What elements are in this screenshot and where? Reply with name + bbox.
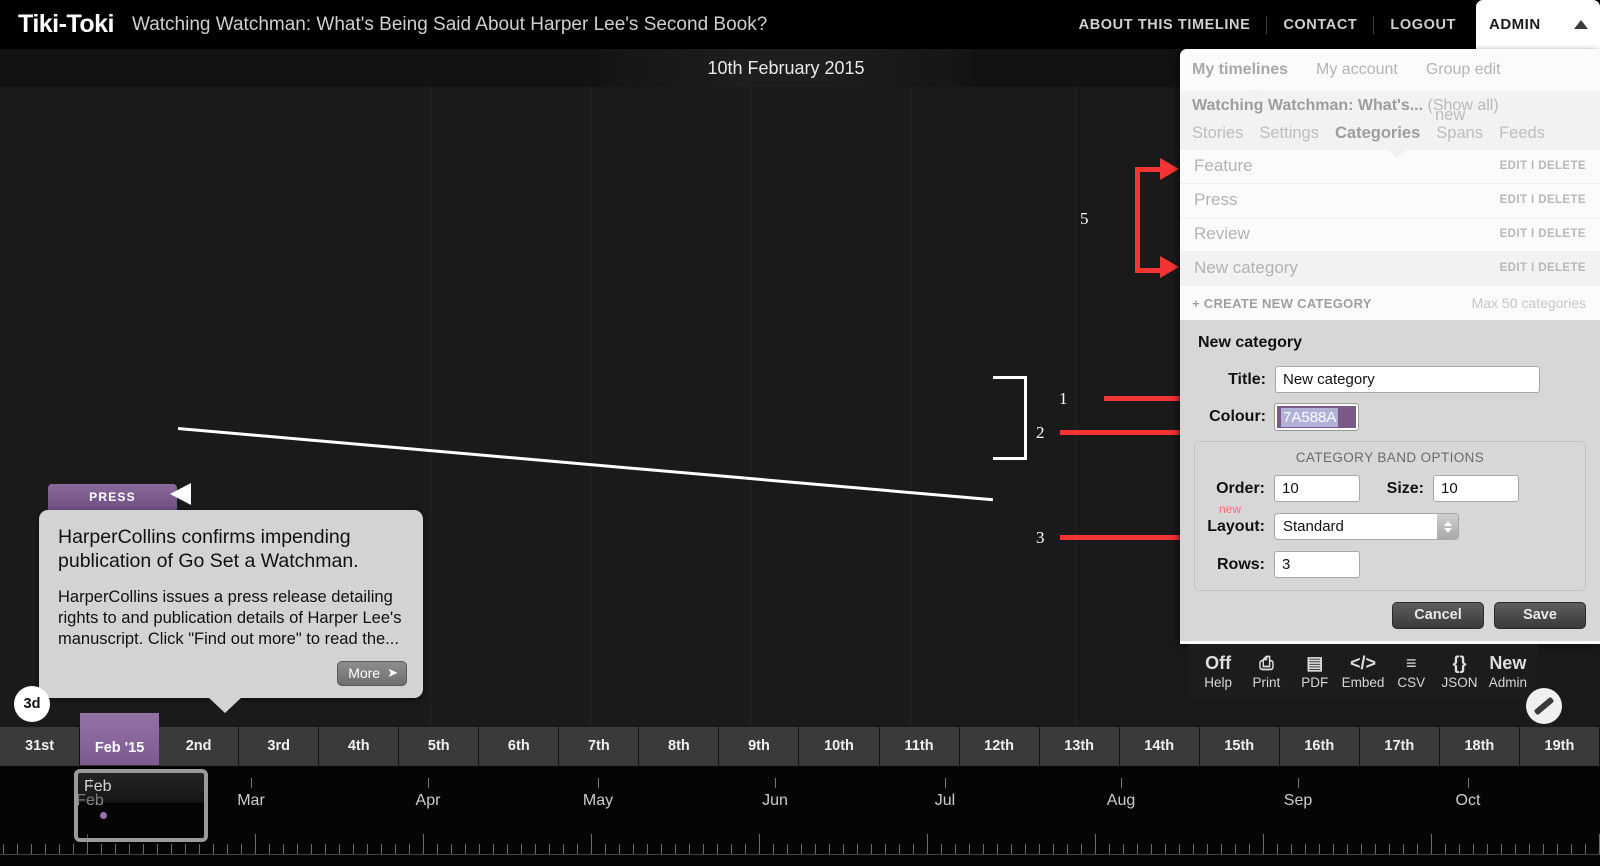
month-tick xyxy=(945,778,946,788)
arrow-right-icon: ➤ xyxy=(387,665,398,681)
day-cell[interactable]: 3rd xyxy=(239,727,319,765)
day-ruler[interactable]: 31st Feb '15 2nd 3rd 4th 5th 6th 7th 8th… xyxy=(0,727,1600,765)
tab-spans[interactable]: Spans xyxy=(1436,124,1483,143)
layout-select-wrap[interactable]: Standard xyxy=(1274,513,1459,540)
tab-group-edit[interactable]: Group edit xyxy=(1426,61,1501,79)
nav-logout[interactable]: LOGOUT xyxy=(1374,16,1472,34)
rows-row: Rows: xyxy=(1207,551,1573,578)
month-tick xyxy=(428,778,429,788)
pdf-label: PDF xyxy=(1301,675,1328,690)
edit-link[interactable]: EDIT xyxy=(1500,160,1528,172)
month-tick xyxy=(1121,778,1122,788)
title-label: Title: xyxy=(1194,371,1266,389)
month-strip[interactable]: Feb Mar Apr May Jun Jul Aug Sep Oct xyxy=(0,765,1600,866)
title-field-row: Title: xyxy=(1194,366,1586,393)
annotation-white-bracket xyxy=(993,376,1027,460)
create-category-row[interactable]: + CREATE NEW CATEGORY Max 50 categories xyxy=(1180,286,1600,320)
day-cell[interactable]: 31st xyxy=(0,727,80,765)
day-cell[interactable]: 14th xyxy=(1120,727,1200,765)
csv-label: CSV xyxy=(1397,675,1425,690)
help-label: Help xyxy=(1204,675,1232,690)
month-tick xyxy=(251,778,252,788)
table-row[interactable]: Review EDIT I DELETE xyxy=(1180,218,1600,252)
day-cell[interactable]: 11th xyxy=(880,727,960,765)
canvas-gridline xyxy=(1075,87,1076,727)
admin-timeline-name-row: Watching Watchman: What's... (Show all) xyxy=(1192,97,1588,115)
tab-my-timelines[interactable]: My timelines xyxy=(1192,61,1288,79)
size-label: Size: xyxy=(1360,480,1424,498)
admin-timeline-name: Watching Watchman: What's... xyxy=(1192,97,1423,114)
rows-input[interactable] xyxy=(1274,551,1360,578)
max-categories-note: Max 50 categories xyxy=(1472,295,1586,311)
edit-link[interactable]: EDIT xyxy=(1500,194,1528,206)
print-button[interactable]: ⎙ Print xyxy=(1242,653,1290,690)
day-cell[interactable]: 9th xyxy=(719,727,799,765)
month-baseline xyxy=(0,854,1600,855)
caret-up-icon xyxy=(1246,90,1264,98)
json-button[interactable]: {} JSON xyxy=(1436,653,1484,690)
story-card[interactable]: HarperCollins confirms impending publica… xyxy=(39,510,423,698)
day-cell[interactable]: 10th xyxy=(799,727,879,765)
timeline-title: Watching Watchman: What's Being Said Abo… xyxy=(132,14,767,36)
story-category-tag[interactable]: PRESS xyxy=(48,484,177,510)
delete-link[interactable]: DELETE xyxy=(1538,228,1586,240)
annotation-white-arrowhead xyxy=(170,483,191,505)
story-more-label: More xyxy=(348,665,380,681)
category-actions[interactable]: EDIT I DELETE xyxy=(1500,160,1586,172)
app-root: Tiki-Toki Watching Watchman: What's Bein… xyxy=(0,0,1600,866)
pdf-icon: ▤ xyxy=(1306,653,1323,673)
band-options-heading: CATEGORY BAND OPTIONS xyxy=(1207,450,1573,465)
rows-label: Rows: xyxy=(1207,556,1265,574)
month-tick xyxy=(1468,778,1469,788)
top-bar: Tiki-Toki Watching Watchman: What's Bein… xyxy=(0,0,1600,49)
order-size-row: Order: Size: xyxy=(1207,475,1573,502)
printer-icon: ⎙ xyxy=(1259,653,1273,673)
nav-about-this-timeline[interactable]: ABOUT THIS TIMELINE xyxy=(1063,16,1268,34)
new-admin-button[interactable]: New Admin xyxy=(1484,653,1532,690)
day-cell[interactable]: 19th xyxy=(1520,727,1600,765)
day-cell[interactable]: 15th xyxy=(1200,727,1280,765)
annotation-5-arrowhead-bottom xyxy=(1160,256,1179,278)
category-name: Review xyxy=(1194,224,1250,244)
month-tick xyxy=(1298,778,1299,788)
table-row[interactable]: New category EDIT I DELETE xyxy=(1180,252,1600,286)
list-icon: ≡ xyxy=(1406,653,1417,673)
admin-primary-tabs: My timelines My account Group edit xyxy=(1180,49,1600,91)
day-cell[interactable]: 8th xyxy=(639,727,719,765)
table-row[interactable]: Press EDIT I DELETE xyxy=(1180,184,1600,218)
day-cell[interactable]: 4th xyxy=(319,727,399,765)
day-cell[interactable]: 13th xyxy=(1040,727,1120,765)
day-cell[interactable]: 7th xyxy=(559,727,639,765)
action-separator: I xyxy=(1531,194,1535,206)
tab-categories[interactable]: Categories xyxy=(1335,124,1420,143)
annotation-number-1: 1 xyxy=(1059,389,1068,409)
tab-feeds[interactable]: Feeds xyxy=(1499,124,1545,143)
layout-row: new Layout: Standard xyxy=(1207,513,1573,540)
viewport-selector[interactable]: Feb xyxy=(74,769,208,842)
category-list: Feature EDIT I DELETE Press EDIT I DELET… xyxy=(1180,150,1600,286)
annotation-number-2: 2 xyxy=(1036,423,1045,443)
annotation-number-3: 3 xyxy=(1036,528,1045,548)
current-date-header: 10th February 2015 xyxy=(600,49,972,87)
order-input[interactable] xyxy=(1274,475,1360,502)
canvas-gridline xyxy=(750,87,751,727)
edit-link[interactable]: EDIT xyxy=(1500,262,1528,274)
category-name: Press xyxy=(1194,190,1237,210)
form-buttons: Cancel Save xyxy=(1194,602,1586,629)
story-more-button[interactable]: More ➤ xyxy=(337,661,407,686)
layout-label: Layout: xyxy=(1207,518,1265,536)
form-heading: New category xyxy=(1198,334,1586,352)
category-name: New category xyxy=(1194,258,1298,278)
month-label[interactable]: Aug xyxy=(1107,792,1135,810)
admin-timeline-header: Watching Watchman: What's... (Show all) … xyxy=(1180,91,1600,150)
cancel-button[interactable]: Cancel xyxy=(1392,602,1484,629)
category-actions[interactable]: EDIT I DELETE xyxy=(1500,262,1586,274)
month-tick xyxy=(775,778,776,788)
edit-link[interactable]: EDIT xyxy=(1500,228,1528,240)
caret-down-icon xyxy=(1388,150,1406,158)
category-actions[interactable]: EDIT I DELETE xyxy=(1500,194,1586,206)
create-new-category-button[interactable]: + CREATE NEW CATEGORY xyxy=(1192,296,1372,311)
canvas-gridline xyxy=(910,87,911,727)
day-cell[interactable]: 2nd xyxy=(159,727,239,765)
colour-input[interactable]: 7A588A xyxy=(1275,404,1358,430)
month-label[interactable]: Mar xyxy=(237,792,265,810)
month-label[interactable]: Sep xyxy=(1284,792,1312,810)
story-marker-dot xyxy=(100,812,107,819)
layout-new-badge: new xyxy=(1219,502,1241,516)
embed-button[interactable]: </> Embed xyxy=(1339,653,1387,690)
day-cell[interactable]: 6th xyxy=(479,727,559,765)
month-label[interactable]: May xyxy=(583,792,613,810)
action-separator: I xyxy=(1531,160,1535,172)
month-label[interactable]: Jul xyxy=(935,792,955,810)
embed-label: Embed xyxy=(1342,675,1385,690)
colour-label: Colour: xyxy=(1194,408,1266,426)
spans-new-badge: new xyxy=(1435,106,1465,125)
delete-link[interactable]: DELETE xyxy=(1538,262,1586,274)
admin-section-tabs: Stories Settings Categories Spans Feeds … xyxy=(1192,115,1588,150)
admin-tab[interactable]: ADMIN xyxy=(1476,0,1600,49)
day-cell[interactable]: 17th xyxy=(1360,727,1440,765)
annotation-5-arrowhead-top xyxy=(1160,158,1179,180)
colour-field-row: Colour: 7A588A xyxy=(1194,404,1586,430)
triangle-up-icon xyxy=(1574,20,1588,29)
save-button[interactable]: Save xyxy=(1494,602,1586,629)
story-headline: HarperCollins confirms impending publica… xyxy=(58,526,404,574)
month-label[interactable]: Apr xyxy=(416,792,441,810)
size-input[interactable] xyxy=(1433,475,1519,502)
admin-label: Admin xyxy=(1489,675,1527,690)
viewport-month-label: Feb xyxy=(84,778,112,796)
layout-select[interactable]: Standard xyxy=(1274,513,1459,540)
category-actions[interactable]: EDIT I DELETE xyxy=(1500,228,1586,240)
brand-logo[interactable]: Tiki-Toki xyxy=(18,10,114,39)
month-label[interactable]: Oct xyxy=(1456,792,1481,810)
order-label: Order: xyxy=(1207,480,1265,498)
month-tick xyxy=(598,778,599,788)
canvas-gridline xyxy=(590,87,591,727)
tab-settings[interactable]: Settings xyxy=(1259,124,1319,143)
story-card-tail xyxy=(208,697,242,713)
day-cell[interactable]: 16th xyxy=(1280,727,1360,765)
annotation-number-5: 5 xyxy=(1080,209,1089,229)
category-form: New category Title: Colour: 7A588A CATEG… xyxy=(1180,320,1600,641)
csv-button[interactable]: ≡ CSV xyxy=(1387,653,1435,690)
braces-icon: {} xyxy=(1453,653,1467,673)
wrench-icon[interactable] xyxy=(1526,688,1562,724)
pdf-button[interactable]: ▤ PDF xyxy=(1291,653,1339,690)
title-input[interactable] xyxy=(1275,366,1540,393)
action-separator: I xyxy=(1531,262,1535,274)
admin-panel: My timelines My account Group edit Watch… xyxy=(1180,49,1600,644)
story-body: HarperCollins issues a press release det… xyxy=(58,587,404,651)
print-label: Print xyxy=(1253,675,1281,690)
category-name: Feature xyxy=(1194,156,1253,176)
day-cell-current[interactable]: Feb '15 xyxy=(80,713,159,765)
delete-link[interactable]: DELETE xyxy=(1538,160,1586,172)
day-cell[interactable]: 18th xyxy=(1440,727,1520,765)
code-icon: </> xyxy=(1350,653,1376,673)
admin-tab-label: ADMIN xyxy=(1489,16,1541,33)
json-label: JSON xyxy=(1442,675,1478,690)
day-cell[interactable]: 12th xyxy=(960,727,1040,765)
category-band-options: CATEGORY BAND OPTIONS Order: Size: new L… xyxy=(1194,441,1586,591)
nav-contact[interactable]: CONTACT xyxy=(1267,16,1374,34)
day-cell[interactable]: 5th xyxy=(399,727,479,765)
action-separator: I xyxy=(1531,228,1535,240)
delete-link[interactable]: DELETE xyxy=(1538,194,1586,206)
minor-ticks xyxy=(0,832,1600,854)
help-toggle-button[interactable]: Off Help xyxy=(1194,653,1242,690)
canvas-gridline xyxy=(430,87,431,727)
colour-value: 7A588A xyxy=(1281,408,1338,427)
export-toolbar: Off Help ⎙ Print ▤ PDF </> Embed ≡ CSV {… xyxy=(1188,644,1538,698)
top-nav: ABOUT THIS TIMELINE CONTACT LOGOUT xyxy=(1063,0,1472,49)
date-header-left-fill xyxy=(0,49,600,87)
tab-stories[interactable]: Stories xyxy=(1192,124,1243,143)
tab-my-account[interactable]: My account xyxy=(1316,61,1398,79)
new-admin-icon: New xyxy=(1489,653,1526,673)
month-label[interactable]: Jun xyxy=(762,792,788,810)
duration-badge: 3d xyxy=(14,686,50,722)
toggle-off-icon: Off xyxy=(1205,653,1231,673)
